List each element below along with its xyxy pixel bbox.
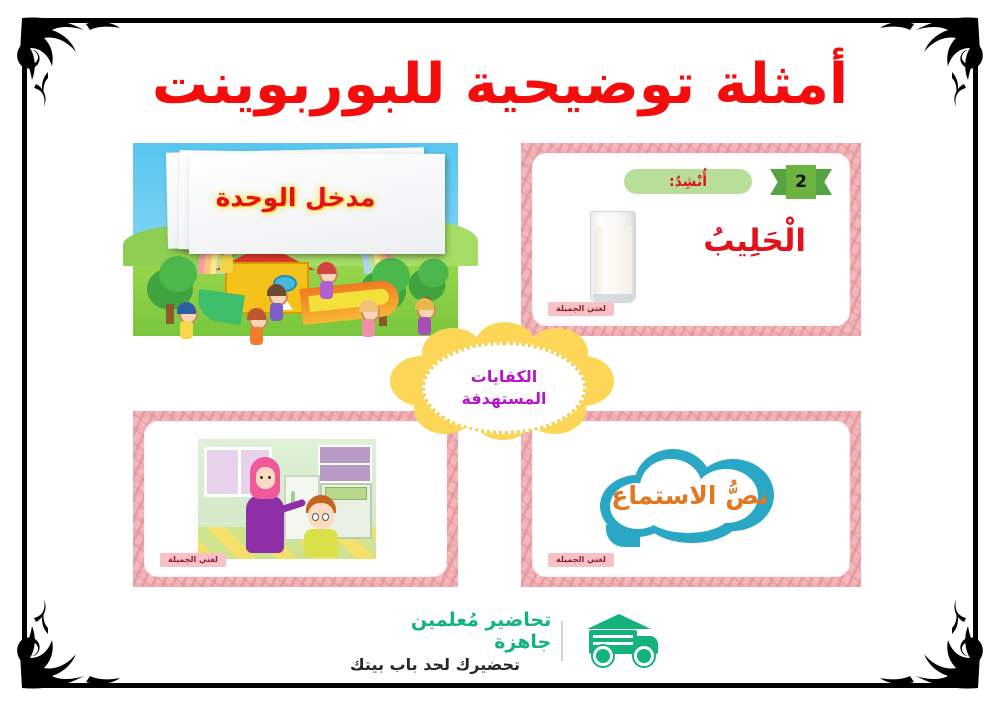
poster-page: أمثلة توضيحية للبوربوينت مدخل الوحدة [0, 0, 1000, 706]
slide-heading: مدخل الوحدة [133, 183, 458, 212]
slide-unit-entry[interactable]: مدخل الوحدة [133, 143, 458, 336]
footer-logo[interactable]: تحاضير مُعلمين جاهزة تحضيرك لحد باب بيتك [350, 612, 660, 670]
child-figure [269, 287, 288, 306]
speech-cloud-icon: نصُّ الاستماع [600, 447, 780, 543]
page-title: أمثلة توضيحية للبوربوينت [0, 52, 1000, 117]
footer-badge: لغتي الجميلة [160, 553, 226, 567]
badge-line-2: المستهدفة [462, 388, 547, 410]
mother-figure [242, 457, 288, 553]
footer-badge: لغتي الجميلة [548, 553, 614, 567]
child-figure [249, 311, 268, 330]
ribbon-number: 2 [786, 165, 816, 199]
cloud-label: نصُّ الاستماع [600, 481, 780, 510]
truck-with-graduation-cap-icon [573, 614, 660, 668]
footer-badge: لغتي الجميلة [548, 302, 614, 316]
lesson-number-ribbon: 2 [770, 165, 832, 199]
logo-line-1: تحاضير مُعلمين جاهزة [350, 609, 551, 653]
slide-canvas: لغتي الجميلة [146, 423, 445, 575]
vocabulary-word: الْحَلِيبُ [703, 223, 806, 259]
competencies-flower-badge[interactable]: الكفايات المستهدفة [388, 326, 613, 444]
prompt-pill: أُنْشِدُ: [624, 169, 752, 194]
logo-divider [561, 621, 563, 661]
logo-line-2: تحضيرك لحد باب بيتك [350, 655, 520, 674]
slide-canvas: أُنْشِدُ: 2 الْحَلِيبُ لغتي الجميلة [534, 155, 848, 324]
cabinet [318, 445, 372, 483]
kitchen-illustration [198, 439, 376, 559]
milk-glass-icon [590, 211, 636, 303]
child-figure [319, 265, 338, 284]
boy-figure [302, 495, 340, 557]
slide-milk-song[interactable]: أُنْشِدُ: 2 الْحَلِيبُ لغتي الجميلة [521, 143, 861, 336]
child-figure [361, 303, 380, 322]
badge-core: الكفايات المستهدفة [422, 342, 586, 434]
badge-line-1: الكفايات [471, 366, 537, 388]
child-figure [417, 301, 436, 320]
child-figure [179, 305, 198, 324]
slide-canvas: نصُّ الاستماع لغتي الجميلة [534, 423, 848, 575]
tree-icon [409, 268, 446, 302]
